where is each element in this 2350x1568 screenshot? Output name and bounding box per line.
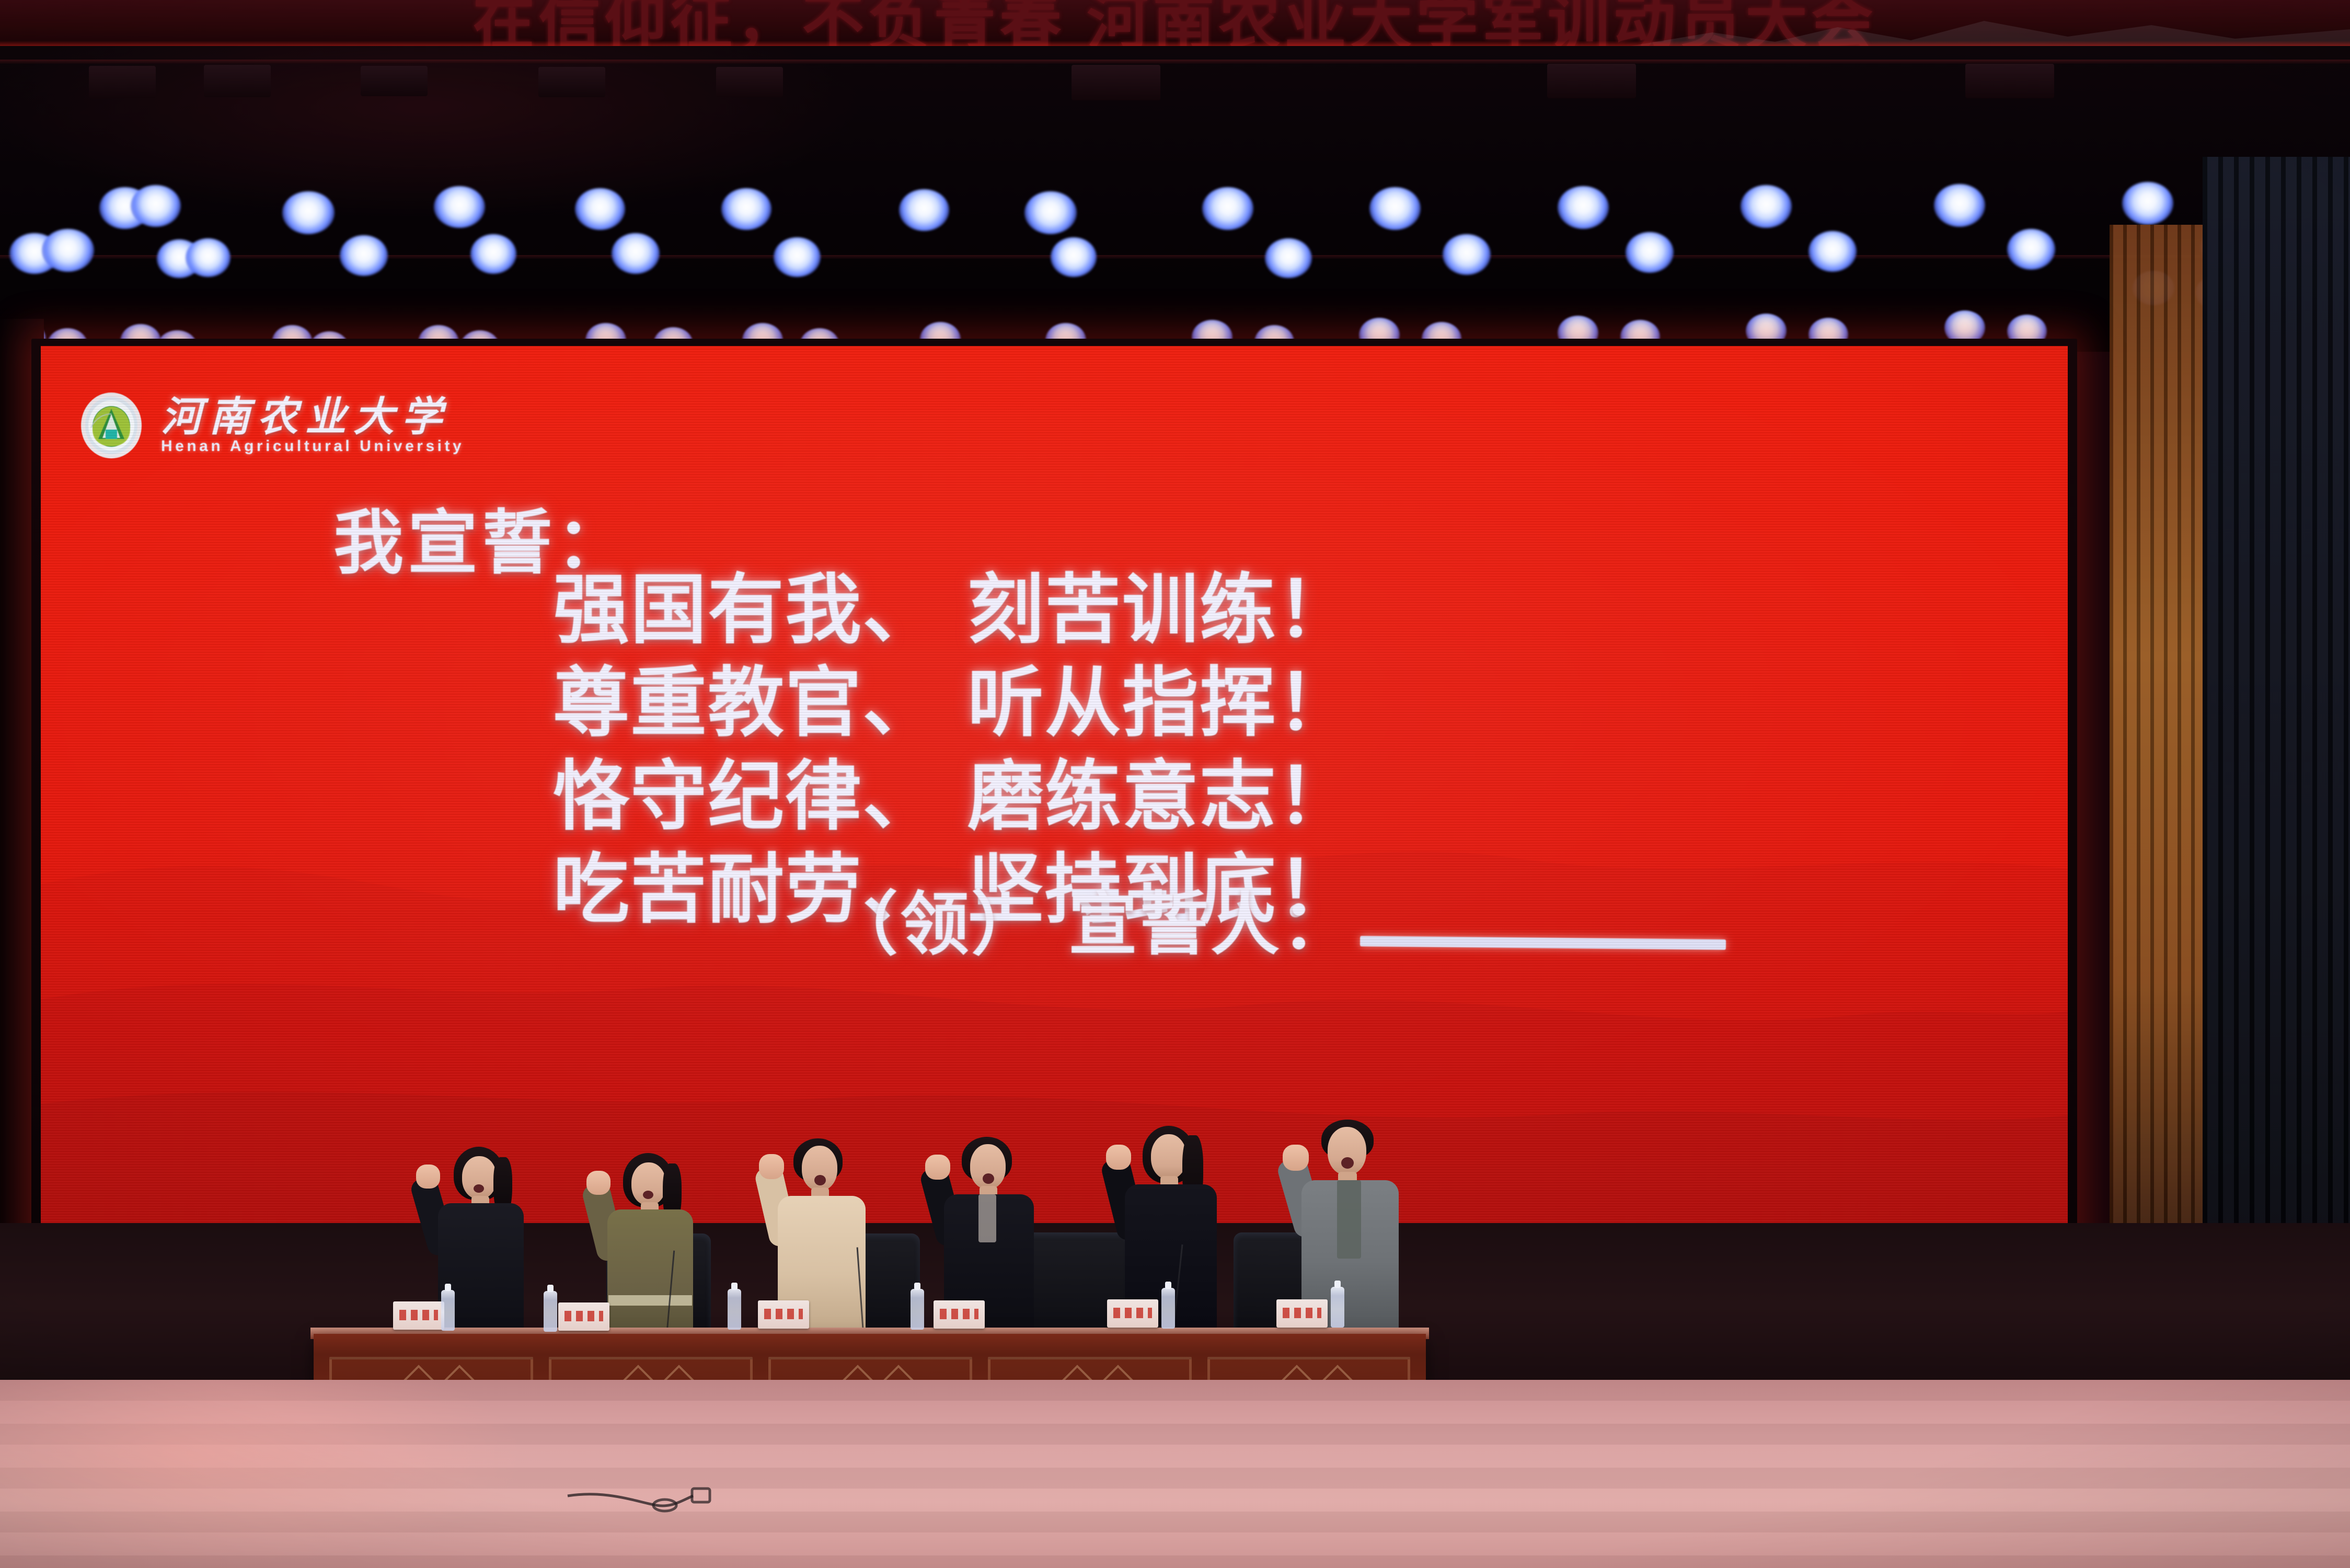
stage-spotlight [721,188,771,230]
stage-spotlight [899,189,949,231]
stage-spotlight [340,235,388,276]
floor-cable [565,1484,737,1516]
person-mouth [643,1191,653,1199]
stage-spotlight [1265,238,1312,278]
water-bottle [1161,1288,1175,1329]
light-rig [538,67,605,97]
nameplate [1276,1299,1328,1328]
stage-spotlight [1934,184,1985,227]
oath-line: 恪守纪律、 磨练意志！ [553,757,1354,836]
stage-spotlight [186,238,231,277]
signature-label: （领） 宣誓人： [829,869,1353,969]
stage-spotlight [612,233,660,274]
stage-spotlight [575,188,625,230]
stage-spotlight [1202,187,1253,230]
stage-curtain-dark [2203,157,2350,1359]
university-name-cn: 河南农业大学 [161,397,464,437]
person-mouth [1341,1157,1354,1169]
university-seal-icon [79,391,143,460]
person-fist [759,1154,784,1179]
light-rig [716,67,783,97]
person-head [1151,1134,1186,1179]
light-rig [89,66,156,98]
person-shirt [978,1194,996,1242]
top-backdrop-banner: 在信仰征，不负青春 河南农业大学军训动员大会 [0,0,2350,48]
stage-spotlight [1626,232,1674,273]
stage-spotlight [1443,234,1491,275]
signature-blank-line [1360,936,1726,950]
stage-scene: 在信仰征，不负青春 河南农业大学军训动员大会 [0,0,2350,1568]
person-fist [1283,1145,1309,1171]
stage-spotlight [1741,185,1792,228]
stage-spotlight [774,237,821,277]
light-rig [1965,64,2054,98]
university-name-en: Henan Agricultural University [161,439,464,454]
person-belt [608,1295,692,1306]
stage-spotlight [470,234,516,274]
water-bottle [1331,1287,1344,1328]
led-screen[interactable]: 河南农业大学 Henan Agricultural University 我宣誓… [41,346,2068,1244]
stage-spotlight [434,186,485,228]
stage-spotlight [1808,231,1857,272]
oath-line: 强国有我、 刻苦训练！ [553,571,1354,649]
truss-bar-upper [0,60,2350,64]
nameplate [1107,1299,1158,1328]
oath-signature-row: （领） 宣誓人： [829,869,1726,969]
person-mouth [983,1173,994,1184]
light-rig [1547,64,1636,98]
light-rig [204,65,271,97]
stage-spotlight [282,191,335,234]
light-rig [1072,65,1160,100]
university-logo: 河南农业大学 Henan Agricultural University [79,391,464,460]
stage-spotlight [131,185,181,227]
person-fist [586,1171,610,1195]
water-bottle [544,1291,557,1332]
person-mouth [814,1175,826,1185]
oath-line: 尊重教官、 听从指挥！ [553,664,1354,742]
person-mouth [474,1184,484,1193]
nameplate [393,1301,444,1330]
person-fist [1106,1145,1131,1170]
stage-spotlight [2122,182,2173,225]
stage-spotlight [1369,187,1421,230]
stage-spotlight [2007,229,2055,270]
university-logo-text: 河南农业大学 Henan Agricultural University [161,397,464,454]
stage-spotlight [1051,237,1097,277]
person-fist [416,1165,440,1189]
person-fist [925,1155,950,1180]
ceiling-light-truss [0,46,2350,352]
water-bottle [911,1289,924,1330]
floor-light-glow [0,1380,941,1568]
stage-spotlight [1024,191,1077,234]
led-screen-frame: 河南农业大学 Henan Agricultural University 我宣誓… [31,339,2077,1253]
stage-spotlight [42,229,94,272]
person-inner-shirt [1337,1180,1361,1259]
nameplate [558,1302,609,1331]
nameplate [758,1300,809,1329]
water-bottle [728,1289,741,1330]
stage-spotlight [1558,186,1609,229]
nameplate [934,1300,985,1329]
water-bottle [441,1290,455,1331]
light-rig [361,66,428,96]
